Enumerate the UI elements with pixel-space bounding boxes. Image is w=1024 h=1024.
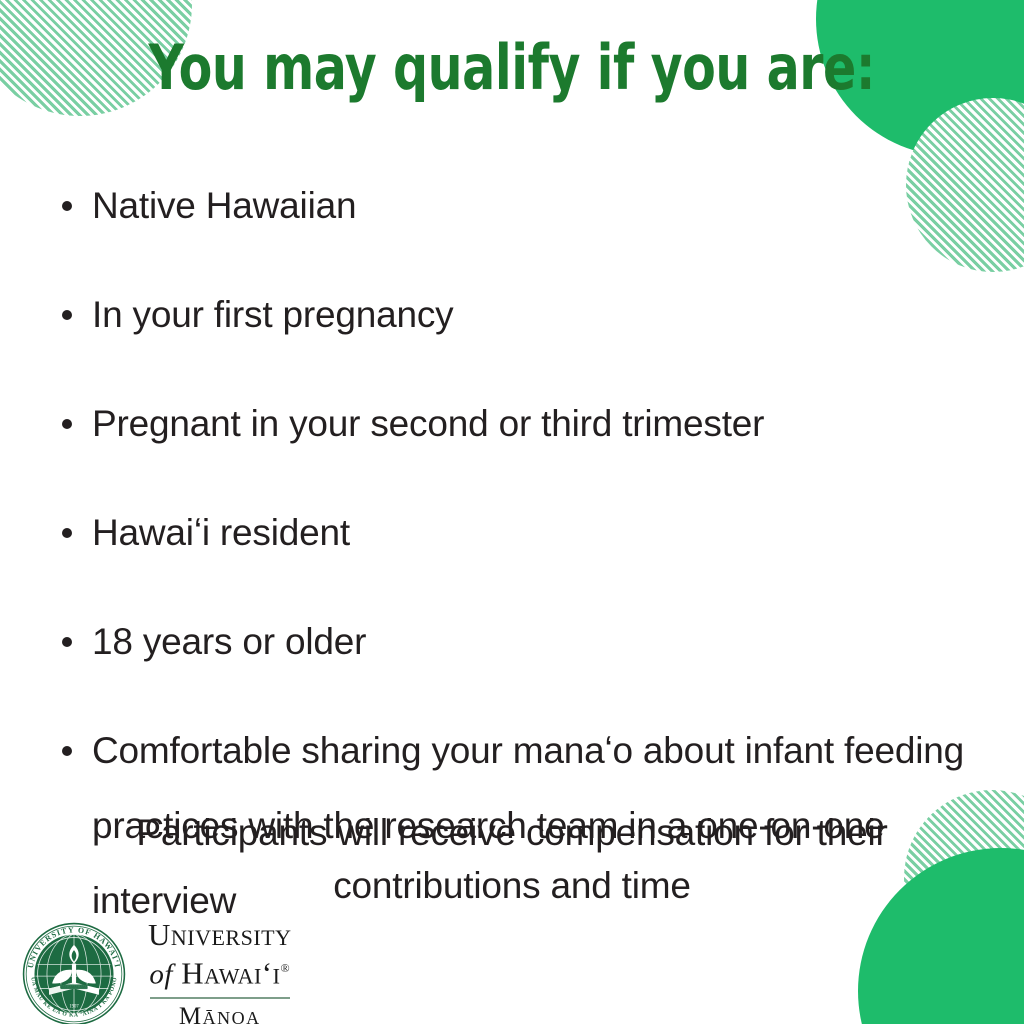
registered-trademark-icon: ® xyxy=(280,961,290,975)
svg-text:1907: 1907 xyxy=(69,1004,79,1009)
compensation-note: Participants will receive compensation f… xyxy=(62,806,962,912)
list-item: 18 years or older xyxy=(58,604,988,679)
list-item-label: Native Hawaiian xyxy=(92,168,988,243)
bullet-icon xyxy=(62,419,72,429)
wordmark-of: of xyxy=(149,958,173,990)
wordmark-divider xyxy=(150,997,290,999)
wordmark-hawaii-line: of Hawaiʻi® xyxy=(148,951,292,992)
list-item: Native Hawaiian xyxy=(58,168,988,243)
page-title-text: You may qualify if you are: xyxy=(149,34,876,102)
bullet-icon xyxy=(62,310,72,320)
list-item: In your first pregnancy xyxy=(58,277,988,352)
university-logo: UNIVERSITY OF HAWAIʻI UA MAU KE EA O KA … xyxy=(22,918,292,1024)
list-item-label: In your first pregnancy xyxy=(92,277,988,352)
university-seal-icon: UNIVERSITY OF HAWAIʻI UA MAU KE EA O KA … xyxy=(22,922,126,1024)
list-item: Hawaiʻi resident xyxy=(58,495,988,570)
bullet-icon xyxy=(62,201,72,211)
wordmark-manoa: Mānoa xyxy=(148,1003,292,1024)
list-item-label: Hawaiʻi resident xyxy=(92,495,988,570)
bullet-icon xyxy=(62,637,72,647)
wordmark-university: University xyxy=(148,918,292,951)
list-item-label: 18 years or older xyxy=(92,604,988,679)
list-item-label: Pregnant in your second or third trimest… xyxy=(92,386,988,461)
svg-text:MALAMALAMA: MALAMALAMA xyxy=(60,985,89,989)
poster-canvas: You may qualify if you are: Native Hawai… xyxy=(0,0,1024,1024)
page-title: You may qualify if you are: xyxy=(0,34,1024,102)
bullet-icon xyxy=(62,528,72,538)
university-wordmark: University of Hawaiʻi® Mānoa xyxy=(148,918,292,1024)
list-item: Pregnant in your second or third trimest… xyxy=(58,386,988,461)
bullet-icon xyxy=(62,746,72,756)
wordmark-hawaii: Hawaiʻi xyxy=(181,955,280,990)
